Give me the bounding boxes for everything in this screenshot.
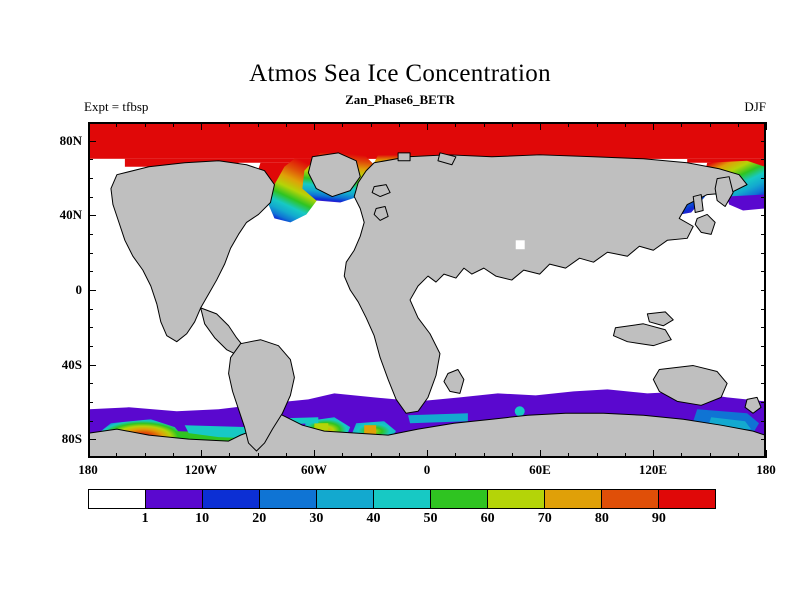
x-axis-minor-tick: [455, 122, 456, 127]
x-axis-tick-mark: [766, 450, 767, 458]
colorbar-cell-red[interactable]: [659, 490, 715, 508]
x-axis-minor-tick: [681, 122, 682, 127]
season-label: DJF: [744, 99, 766, 115]
world-map-svg: [89, 123, 765, 457]
colorbar-cell-medium-blue[interactable]: [260, 490, 317, 508]
x-axis-minor-tick: [625, 453, 626, 458]
x-axis-minor-tick: [512, 122, 513, 127]
x-axis-minor-tick: [738, 122, 739, 127]
x-axis-tick-mark: [88, 122, 89, 130]
experiment-label: Expt = tfbsp: [84, 99, 148, 115]
x-axis-tick-mark: [540, 450, 541, 458]
colorbar-tick-label: 90: [652, 511, 666, 527]
x-axis-minor-tick: [229, 122, 230, 127]
y-axis-minor-tick: [88, 439, 93, 440]
figure-title: Atmos Sea Ice Concentration: [0, 60, 800, 88]
y-axis-tick-label: 40S: [62, 357, 82, 373]
x-axis-minor-tick: [173, 453, 174, 458]
colorbar-cell-orange-red[interactable]: [602, 490, 659, 508]
y-axis-minor-tick: [761, 197, 766, 198]
y-axis-minor-tick: [88, 234, 93, 235]
y-axis-minor-tick: [88, 197, 93, 198]
x-axis-minor-tick: [484, 122, 485, 127]
colorbar-tick-label: 1: [142, 511, 149, 527]
y-axis-minor-tick: [761, 309, 766, 310]
colorbar-cell-white[interactable]: [89, 490, 146, 508]
y-axis-minor-tick: [88, 309, 93, 310]
colorbar-cell-gold[interactable]: [545, 490, 602, 508]
x-axis-minor-tick: [710, 122, 711, 127]
y-axis-tick-label: 0: [76, 282, 83, 298]
x-axis-tick-label: 180: [78, 462, 98, 478]
colorbar-tick-label: 30: [309, 511, 323, 527]
land-sakhalin: [693, 195, 703, 213]
colorbar-tick-label: 40: [366, 511, 380, 527]
y-axis-minor-tick: [761, 365, 766, 366]
x-axis-minor-tick: [116, 453, 117, 458]
x-axis-tick-mark: [427, 122, 428, 130]
y-axis-minor-tick: [88, 402, 93, 403]
x-axis-minor-tick: [342, 453, 343, 458]
x-axis-tick-label: 0: [424, 462, 431, 478]
y-axis-minor-tick: [88, 327, 93, 328]
y-axis-minor-tick: [761, 439, 766, 440]
y-axis-tick-label: 40N: [60, 207, 82, 223]
x-axis-tick-mark: [653, 122, 654, 130]
y-axis-minor-tick: [88, 271, 93, 272]
x-axis-tick-label: 60E: [529, 462, 551, 478]
colorbar-cell-yellow-green[interactable]: [488, 490, 545, 508]
x-axis-minor-tick: [173, 122, 174, 127]
colorbar-tick-label: 80: [595, 511, 609, 527]
y-axis-minor-tick: [88, 253, 93, 254]
colorbar-cell-violet[interactable]: [146, 490, 203, 508]
x-axis-minor-tick: [342, 122, 343, 127]
x-axis-minor-tick: [625, 122, 626, 127]
ice-prydz-bay: [515, 406, 525, 416]
colorbar-cell-cyan[interactable]: [374, 490, 431, 508]
x-axis-minor-tick: [484, 453, 485, 458]
x-axis-minor-tick: [258, 122, 259, 127]
map-clip: [89, 123, 765, 457]
y-axis-minor-tick: [761, 402, 766, 403]
y-axis-minor-tick: [88, 178, 93, 179]
y-axis-minor-tick: [761, 327, 766, 328]
x-axis-minor-tick: [568, 122, 569, 127]
y-axis-minor-tick: [761, 178, 766, 179]
x-axis-minor-tick: [399, 453, 400, 458]
x-axis-minor-tick: [371, 122, 372, 127]
x-axis-minor-tick: [738, 453, 739, 458]
y-axis-minor-tick: [88, 215, 93, 216]
y-axis-tick-label: 80S: [62, 431, 82, 447]
x-axis-minor-tick: [258, 453, 259, 458]
y-axis-minor-tick: [88, 290, 93, 291]
x-axis-tick-label: 60W: [301, 462, 327, 478]
y-axis-minor-tick: [88, 141, 93, 142]
figure-canvas: Atmos Sea Ice Concentration Zan_Phase6_B…: [0, 0, 800, 600]
x-axis-minor-tick: [371, 453, 372, 458]
x-axis-tick-mark: [540, 122, 541, 130]
y-axis-minor-tick: [761, 234, 766, 235]
colorbar-cell-blue[interactable]: [203, 490, 260, 508]
y-axis-minor-tick: [88, 346, 93, 347]
x-axis-minor-tick: [145, 122, 146, 127]
y-axis-tick-label: 80N: [60, 133, 82, 149]
colorbar-tick-label: 10: [195, 511, 209, 527]
x-axis-tick-mark: [201, 122, 202, 130]
y-axis-minor-tick: [761, 346, 766, 347]
y-axis-minor-tick: [761, 215, 766, 216]
colorbar-tick-label: 60: [481, 511, 495, 527]
y-axis-minor-tick: [761, 290, 766, 291]
x-axis-minor-tick: [116, 122, 117, 127]
x-axis-tick-mark: [314, 450, 315, 458]
y-axis-minor-tick: [761, 253, 766, 254]
land-svalbard: [398, 153, 410, 161]
y-axis-minor-tick: [761, 383, 766, 384]
x-axis-minor-tick: [512, 453, 513, 458]
map-speck-white: [516, 240, 525, 249]
x-axis-minor-tick: [229, 453, 230, 458]
y-axis-minor-tick: [88, 365, 93, 366]
x-axis-minor-tick: [568, 453, 569, 458]
colorbar-cell-green[interactable]: [431, 490, 488, 508]
y-axis-minor-tick: [88, 421, 93, 422]
x-axis-minor-tick: [710, 453, 711, 458]
x-axis-minor-tick: [681, 453, 682, 458]
x-axis-minor-tick: [597, 453, 598, 458]
x-axis-tick-mark: [427, 450, 428, 458]
y-axis-minor-tick: [761, 159, 766, 160]
x-axis-tick-mark: [88, 450, 89, 458]
x-axis-tick-label: 120W: [185, 462, 218, 478]
x-axis-minor-tick: [286, 453, 287, 458]
x-axis-minor-tick: [455, 453, 456, 458]
x-axis-tick-mark: [314, 122, 315, 130]
colorbar-cell-cyan-blue[interactable]: [317, 490, 374, 508]
y-axis-minor-tick: [88, 383, 93, 384]
x-axis-minor-tick: [399, 122, 400, 127]
x-axis-tick-mark: [201, 450, 202, 458]
y-axis-minor-tick: [761, 271, 766, 272]
colorbar-tick-label: 50: [424, 511, 438, 527]
colorbar-tick-label: 70: [538, 511, 552, 527]
x-axis-minor-tick: [145, 453, 146, 458]
colorbar[interactable]: [88, 489, 716, 509]
y-axis-minor-tick: [761, 421, 766, 422]
y-axis-minor-tick: [88, 159, 93, 160]
x-axis-minor-tick: [597, 122, 598, 127]
x-axis-minor-tick: [286, 122, 287, 127]
x-axis-tick-label: 180: [756, 462, 776, 478]
x-axis-tick-mark: [653, 450, 654, 458]
colorbar-tick-label: 20: [252, 511, 266, 527]
map-plot-area: [88, 122, 766, 458]
y-axis-minor-tick: [761, 141, 766, 142]
x-axis-tick-label: 120E: [639, 462, 667, 478]
x-axis-tick-mark: [766, 122, 767, 130]
